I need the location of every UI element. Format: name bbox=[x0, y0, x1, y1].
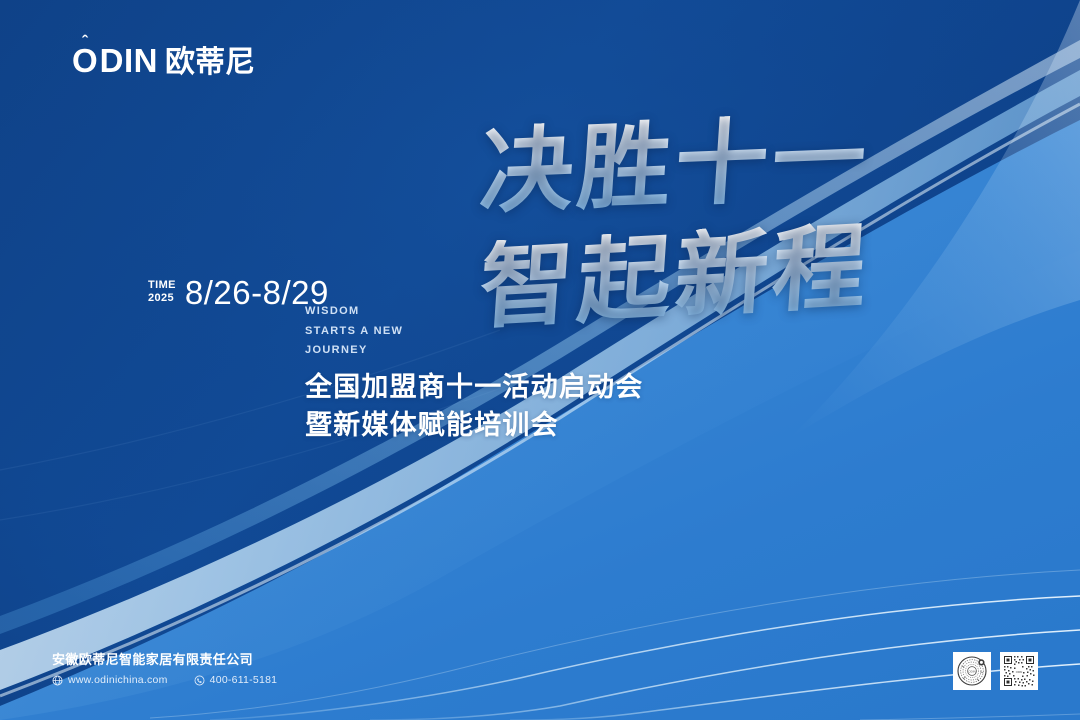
date-label-year: 2025 bbox=[148, 292, 176, 305]
globe-icon bbox=[52, 675, 63, 686]
logo-latin-text: DIN bbox=[100, 44, 158, 77]
brand-logo: ˆ O DIN 欧蒂尼 bbox=[72, 44, 255, 78]
event-poster: ˆ O DIN 欧蒂尼 决胜十一 智起新程 TIME 2025 8/26-8/2… bbox=[0, 0, 1080, 720]
circular-qr-code[interactable]: ODIN bbox=[953, 652, 991, 690]
square-qr-code[interactable]: ODIN bbox=[1000, 652, 1038, 690]
tagline-line-2: STARTS A NEW bbox=[305, 322, 403, 342]
date-label-time: TIME bbox=[148, 279, 176, 292]
svg-text:ODIN: ODIN bbox=[1016, 670, 1023, 674]
title-line-2: 智起新程 bbox=[436, 217, 915, 336]
phone-text: 400-611-5181 bbox=[210, 675, 278, 686]
tagline-line-3: JOURNEY bbox=[305, 341, 403, 361]
event-subtitle: 全国加盟商十一活动启动会 暨新媒体赋能培训会 bbox=[305, 368, 643, 445]
date-label: TIME 2025 bbox=[148, 279, 176, 307]
logo-circumflex-icon: ˆ bbox=[82, 33, 88, 50]
phone-contact[interactable]: 400-611-5181 bbox=[194, 675, 278, 686]
subtitle-line-2: 暨新媒体赋能培训会 bbox=[305, 406, 643, 444]
subtitle-line-1: 全国加盟商十一活动启动会 bbox=[305, 368, 643, 406]
tagline-line-1: WISDOM bbox=[305, 302, 403, 322]
main-title: 决胜十一 智起新程 bbox=[440, 108, 910, 338]
website-contact[interactable]: www.odinichina.com bbox=[52, 675, 168, 686]
qr-code-group: ODIN bbox=[953, 652, 1038, 690]
event-date: TIME 2025 8/26-8/29 bbox=[148, 276, 329, 309]
contact-row: www.odinichina.com 400-611-5181 bbox=[52, 675, 277, 686]
svg-text:ODIN: ODIN bbox=[968, 670, 976, 674]
logo-chinese-text: 欧蒂尼 bbox=[165, 48, 255, 78]
website-text: www.odinichina.com bbox=[68, 675, 168, 686]
company-name: 安徽欧蒂尼智能家居有限责任公司 bbox=[52, 653, 277, 666]
footer: 安徽欧蒂尼智能家居有限责任公司 www.odinichina.com bbox=[52, 653, 277, 686]
phone-icon bbox=[194, 675, 205, 686]
english-tagline: WISDOM STARTS A NEW JOURNEY bbox=[305, 302, 403, 361]
title-line-1: 决胜十一 bbox=[436, 109, 914, 220]
logo-o-letter: ˆ O bbox=[72, 44, 98, 77]
